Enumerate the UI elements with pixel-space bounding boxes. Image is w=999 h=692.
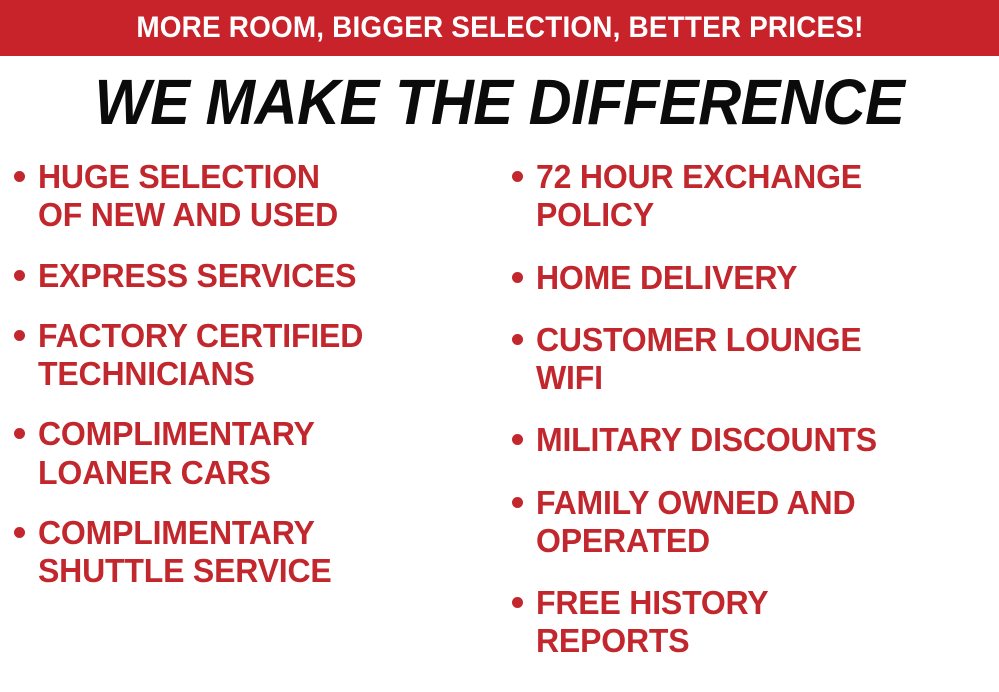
- bullet-dot-icon: [512, 171, 523, 182]
- list-item-label: MILITARY DISCOUNTS: [536, 421, 877, 459]
- list-item: CUSTOMER LOUNGE WIFI: [512, 321, 999, 398]
- list-item: 72 HOUR EXCHANGE POLICY: [512, 158, 999, 235]
- list-item-line1: FACTORY CERTIFIED: [38, 317, 363, 354]
- list-item: HUGE SELECTION OF NEW AND USED: [14, 158, 506, 235]
- benefits-column-right: 72 HOUR EXCHANGE POLICY HOME DELIVERY CU…: [512, 158, 999, 685]
- list-item-label: EXPRESS SERVICES: [38, 257, 356, 295]
- bullet-dot-icon: [512, 434, 523, 445]
- list-item: COMPLIMENTARY SHUTTLE SERVICE: [14, 514, 506, 591]
- list-item: FAMILY OWNED AND OPERATED: [512, 484, 999, 561]
- list-item-label: 72 HOUR EXCHANGE POLICY: [536, 158, 862, 235]
- list-item-line2: OPERATED: [536, 522, 855, 560]
- list-item: FREE HISTORY REPORTS: [512, 584, 999, 661]
- list-item: COMPLIMENTARY LOANER CARS: [14, 415, 506, 492]
- bullet-dot-icon: [14, 270, 25, 281]
- list-item-label: HUGE SELECTION OF NEW AND USED: [38, 158, 338, 235]
- list-item-line1: EXPRESS SERVICES: [38, 257, 356, 294]
- banner-headline-text: MORE ROOM, BIGGER SELECTION, BETTER PRIC…: [136, 13, 863, 43]
- list-item: HOME DELIVERY: [512, 259, 999, 297]
- promo-poster: MORE ROOM, BIGGER SELECTION, BETTER PRIC…: [0, 0, 999, 692]
- list-item-line2: OF NEW AND USED: [38, 196, 338, 234]
- list-item-line2: TECHNICIANS: [38, 355, 363, 393]
- list-item-line1: COMPLIMENTARY: [38, 514, 315, 551]
- list-item-label: CUSTOMER LOUNGE WIFI: [536, 321, 862, 398]
- benefits-column-left: HUGE SELECTION OF NEW AND USED EXPRESS S…: [14, 158, 506, 612]
- headline-container: WE MAKE THE DIFFERENCE: [0, 62, 999, 142]
- list-item-line1: FAMILY OWNED AND: [536, 484, 855, 521]
- list-item-line1: CUSTOMER LOUNGE: [536, 321, 862, 358]
- list-item-line2: WIFI: [536, 359, 862, 397]
- bullet-dot-icon: [512, 272, 523, 283]
- list-item-label: FAMILY OWNED AND OPERATED: [536, 484, 855, 561]
- list-item-line2: LOANER CARS: [38, 454, 315, 492]
- list-item-line2: POLICY: [536, 196, 862, 234]
- list-item-label: HOME DELIVERY: [536, 259, 797, 297]
- list-item-label: COMPLIMENTARY SHUTTLE SERVICE: [38, 514, 332, 591]
- page-title: WE MAKE THE DIFFERENCE: [95, 70, 905, 134]
- list-item-line2: REPORTS: [536, 622, 768, 660]
- list-item: EXPRESS SERVICES: [14, 257, 506, 295]
- list-item-line2: SHUTTLE SERVICE: [38, 552, 332, 590]
- list-item-line1: MILITARY DISCOUNTS: [536, 421, 877, 458]
- bullet-dot-icon: [14, 330, 25, 341]
- list-item-line1: 72 HOUR EXCHANGE: [536, 158, 862, 195]
- benefits-columns: HUGE SELECTION OF NEW AND USED EXPRESS S…: [0, 158, 999, 692]
- list-item-label: FACTORY CERTIFIED TECHNICIANS: [38, 317, 363, 394]
- list-item-line1: FREE HISTORY: [536, 584, 768, 621]
- top-banner: MORE ROOM, BIGGER SELECTION, BETTER PRIC…: [0, 0, 999, 56]
- list-item-label: COMPLIMENTARY LOANER CARS: [38, 415, 315, 492]
- list-item-line1: COMPLIMENTARY: [38, 415, 315, 452]
- bullet-dot-icon: [512, 497, 523, 508]
- bullet-dot-icon: [14, 428, 25, 439]
- list-item: FACTORY CERTIFIED TECHNICIANS: [14, 317, 506, 394]
- list-item-label: FREE HISTORY REPORTS: [536, 584, 768, 661]
- bullet-dot-icon: [14, 171, 25, 182]
- bullet-dot-icon: [14, 527, 25, 538]
- list-item: MILITARY DISCOUNTS: [512, 421, 999, 459]
- bullet-dot-icon: [512, 597, 523, 608]
- bullet-dot-icon: [512, 334, 523, 345]
- list-item-line1: HUGE SELECTION: [38, 158, 320, 195]
- list-item-line1: HOME DELIVERY: [536, 259, 797, 296]
